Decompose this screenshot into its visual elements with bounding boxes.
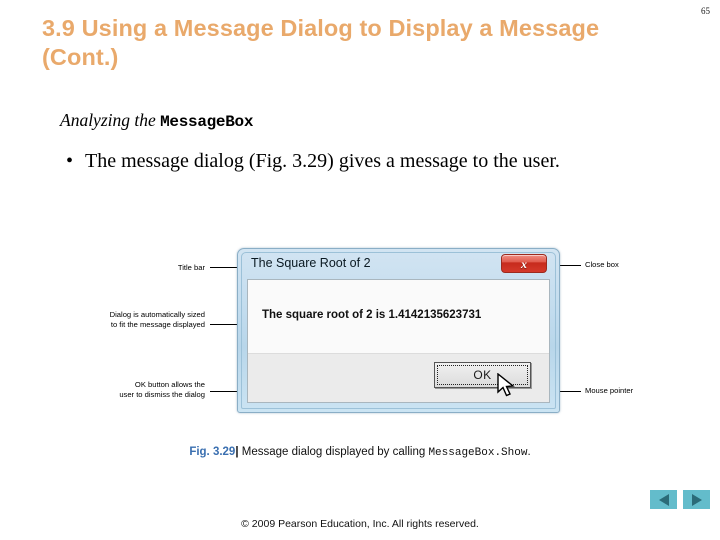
mouse-pointer-icon	[497, 373, 517, 404]
arrow-left-icon	[659, 494, 669, 506]
section-subhead: Analyzing the MessageBox	[60, 110, 253, 131]
subhead-prefix: Analyzing the	[60, 110, 160, 130]
slide-number: 65	[701, 6, 710, 16]
ok-button[interactable]: OK	[434, 362, 531, 388]
callout-ok-button-line1: OK button allows the	[40, 380, 205, 390]
bullet-marker-icon: •	[66, 148, 73, 174]
callout-ok-button-line2: user to dismiss the dialog	[40, 390, 205, 400]
caption-text: Message dialog displayed by calling	[239, 446, 429, 458]
caption-code: MessageBox.Show	[428, 447, 527, 459]
callout-auto-size: Dialog is automatically sized to fit the…	[40, 310, 205, 329]
close-icon: x	[521, 258, 527, 270]
leader-line-title-bar	[210, 267, 237, 268]
ok-button-label: OK	[473, 368, 491, 382]
copyright-notice: © 2009 Pearson Education, Inc. All right…	[0, 518, 720, 530]
figure-caption: Fig. 3.29| Message dialog displayed by c…	[0, 446, 720, 459]
subhead-code-messagebox: MessageBox	[160, 113, 253, 131]
dialog-title-bar[interactable]: The Square Root of 2 x	[238, 249, 559, 279]
previous-slide-button[interactable]	[650, 490, 677, 509]
callout-ok-button: OK button allows the user to dismiss the…	[40, 380, 205, 399]
callout-mouse-pointer: Mouse pointer	[585, 386, 685, 396]
caption-period: .	[527, 446, 530, 458]
dialog-client-area: The square root of 2 is 1.4142135623731 …	[247, 279, 550, 403]
callout-title-bar: Title bar	[60, 263, 205, 273]
figure-3-29: Title bar Dialog is automatically sized …	[0, 240, 720, 425]
callout-close-box: Close box	[585, 260, 675, 270]
bullet-item-text: The message dialog (Fig. 3.29) gives a m…	[85, 148, 606, 174]
arrow-right-icon	[692, 494, 702, 506]
dialog-button-strip: OK	[248, 353, 549, 402]
dialog-title-text: The Square Root of 2	[251, 256, 371, 270]
figure-number: Fig. 3.29	[189, 446, 235, 458]
callout-auto-size-line1: Dialog is automatically sized	[40, 310, 205, 320]
callout-auto-size-line2: to fit the message displayed	[40, 320, 205, 330]
message-dialog-window[interactable]: The Square Root of 2 x The square root o…	[237, 248, 560, 413]
next-slide-button[interactable]	[683, 490, 710, 509]
dialog-message-panel: The square root of 2 is 1.4142135623731	[248, 280, 549, 353]
bullet-list: • The message dialog (Fig. 3.29) gives a…	[66, 148, 606, 174]
dialog-message-text: The square root of 2 is 1.4142135623731	[262, 309, 481, 321]
slide-navigation	[650, 490, 710, 509]
page-title: 3.9 Using a Message Dialog to Display a …	[42, 14, 672, 72]
close-button[interactable]: x	[501, 254, 547, 273]
